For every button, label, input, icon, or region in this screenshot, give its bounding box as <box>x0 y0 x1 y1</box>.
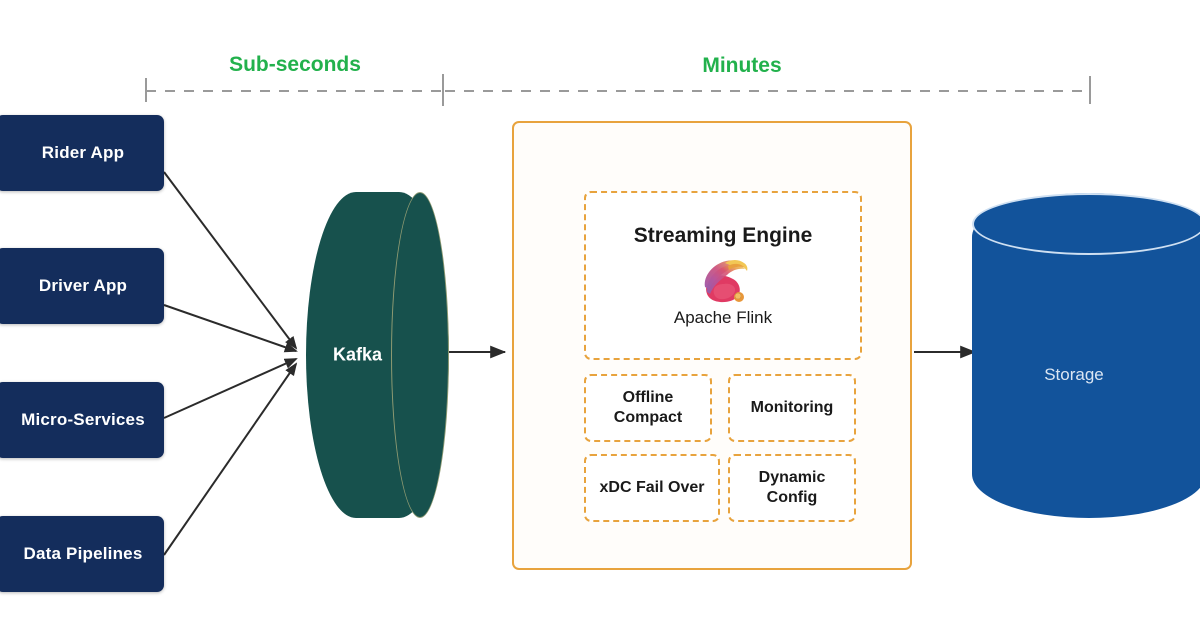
timeline-label-minutes: Minutes <box>642 54 842 78</box>
timeline-label-sub-seconds: Sub-seconds <box>195 53 395 77</box>
component-label-offline-compact-line1: Offline <box>623 388 674 408</box>
arrow-driver-app-to-kafka <box>164 305 296 351</box>
component-label-offline-compact-line2: Compact <box>614 408 682 428</box>
source-label-driver-app: Driver App <box>33 276 127 296</box>
streaming-engine-title: Streaming Engine <box>634 224 813 248</box>
component-card-xdc-fail-over[interactable]: xDC Fail Over <box>584 454 720 522</box>
arrow-micro-services-to-kafka <box>164 359 296 418</box>
streaming-engine-card[interactable]: Streaming Engine <box>584 191 862 360</box>
kafka-label: Kafka <box>306 345 449 366</box>
component-card-offline-compact[interactable]: Offline Compact <box>584 374 712 442</box>
source-label-rider-app: Rider App <box>36 143 124 163</box>
source-box-data-pipelines[interactable]: Data Pipelines <box>0 516 164 592</box>
source-box-micro-services[interactable]: Micro-Services <box>0 382 164 458</box>
streaming-platform-container: Streaming Engine <box>512 121 912 570</box>
source-box-driver-app[interactable]: Driver App <box>0 248 164 324</box>
storage-cylinder-top <box>972 193 1200 255</box>
storage-label: Storage <box>972 365 1200 385</box>
component-label-monitoring: Monitoring <box>751 398 834 418</box>
source-label-micro-services: Micro-Services <box>15 410 145 430</box>
component-label-dynamic-config-line2: Config <box>767 488 818 508</box>
component-card-monitoring[interactable]: Monitoring <box>728 374 856 442</box>
arrow-data-pipelines-to-kafka <box>164 364 296 555</box>
arrow-rider-app-to-kafka <box>164 172 296 348</box>
source-label-data-pipelines: Data Pipelines <box>17 544 142 564</box>
component-label-xdc-fail-over: xDC Fail Over <box>600 478 705 498</box>
storage-cylinder[interactable]: Storage <box>972 193 1200 518</box>
architecture-diagram: Sub-seconds Minutes Rider App Driver App <box>0 0 1200 630</box>
kafka-cylinder[interactable]: Kafka <box>306 192 449 518</box>
component-label-dynamic-config-line1: Dynamic <box>759 468 826 488</box>
apache-flink-logo-icon <box>695 254 751 304</box>
source-box-rider-app[interactable]: Rider App <box>0 115 164 191</box>
streaming-engine-subtitle: Apache Flink <box>674 308 772 328</box>
component-card-dynamic-config[interactable]: Dynamic Config <box>728 454 856 522</box>
